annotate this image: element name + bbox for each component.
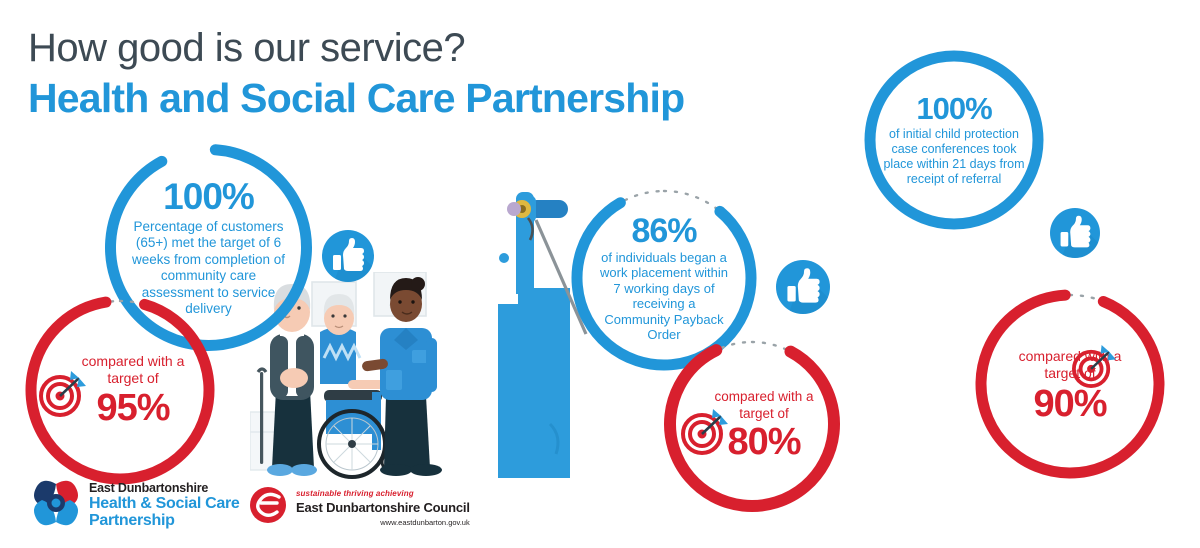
council-name: East Dunbartonshire Council xyxy=(296,500,470,515)
infographic-canvas: How good is our service? Health and Soci… xyxy=(0,0,1200,548)
stat-percent: 100% xyxy=(163,178,254,215)
stat-circle-child-protection: 100% of initial child protection case co… xyxy=(862,48,1046,232)
hscp-line-2: Health & Social Care xyxy=(89,496,240,512)
hscp-line-1: East Dunbartonshire xyxy=(89,482,240,495)
council-logo: sustainable thriving achieving East Dunb… xyxy=(248,484,470,531)
target-percent: 80% xyxy=(727,423,800,461)
council-url: www.eastdunbarton.gov.uk xyxy=(296,518,470,527)
target-label-1: compared with a xyxy=(82,353,185,370)
target-label-2: target of xyxy=(739,405,789,422)
stat-circle-target95: compared with a target of 95% xyxy=(22,292,218,488)
target-percent: 95% xyxy=(96,389,169,427)
target-label-2: target of xyxy=(107,370,158,387)
council-e-roundel xyxy=(248,484,288,531)
stat-circle-target80: compared with a target of 80% xyxy=(662,334,842,514)
stat-percent: 100% xyxy=(916,93,991,124)
hscp-line-3: Partnership xyxy=(89,513,240,529)
headline-subject: Health and Social Care Partnership xyxy=(28,74,684,122)
target-label-1: compared with a xyxy=(714,388,813,405)
stat-description: of initial child protection case confere… xyxy=(862,127,1046,187)
hscp-petal-mark xyxy=(30,478,82,533)
target-percent: 90% xyxy=(1033,385,1106,423)
thumbs-up-icon xyxy=(1050,208,1100,263)
stat-circle-target90: compared with a target of 90% xyxy=(972,286,1168,482)
page-title: How good is our service? Health and Soci… xyxy=(28,26,684,122)
thumbs-up-icon xyxy=(322,230,374,287)
hscp-logo: East Dunbartonshire Health & Social Care… xyxy=(30,478,240,533)
headline-question: How good is our service? xyxy=(28,26,684,70)
stat-percent: 86% xyxy=(631,214,696,248)
thumbs-up-icon xyxy=(776,260,830,319)
council-tagline: sustainable thriving achieving xyxy=(296,489,470,498)
stat-description: of individuals began a work placement wi… xyxy=(568,250,760,343)
